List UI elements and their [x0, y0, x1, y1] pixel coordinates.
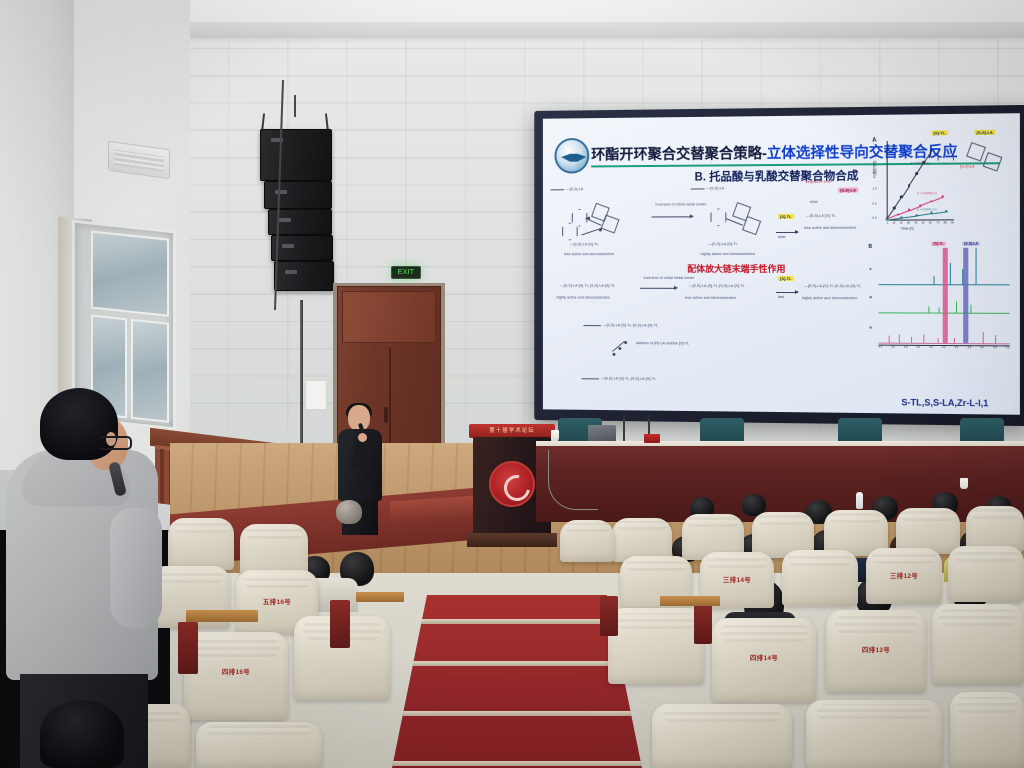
water-bottle	[856, 492, 863, 509]
chem-annotation: —[S,S]-LA-[S]-TL	[709, 242, 738, 246]
wall-notice-sheet	[305, 380, 327, 410]
x-tick: 80	[944, 221, 947, 224]
attendee-arm	[110, 508, 162, 628]
x-tick: 10	[892, 222, 895, 225]
kinetics-series-layer	[870, 136, 958, 137]
series-line	[916, 213, 931, 216]
seat[interactable]	[948, 546, 1024, 602]
x-tick: 70	[936, 221, 939, 224]
table-microphone	[623, 418, 625, 442]
projection-screen: 环酯开环聚合交替聚合策略-立体选择性导向交替聚合反应 B. 托品酸与乳酸交替聚合…	[543, 113, 1020, 415]
window-pane-upper	[91, 231, 169, 317]
series-marker	[941, 195, 944, 198]
nmr-peak	[970, 305, 971, 313]
seat-armrest	[178, 622, 198, 674]
reaction-arrow-icon	[776, 292, 798, 293]
y-tick: 2.5	[872, 139, 876, 143]
university-seal-icon	[554, 138, 589, 174]
nameplate	[644, 434, 660, 443]
seat-label: 三排12号	[866, 570, 942, 580]
paper-cup	[960, 478, 968, 489]
series-marker	[915, 214, 918, 217]
door-center-split	[389, 347, 391, 449]
audience-head	[336, 500, 362, 524]
power-cable	[548, 450, 598, 510]
step-nosing	[392, 761, 642, 766]
nmr-band-label: [S]-TL	[931, 242, 945, 246]
series-marker	[908, 184, 911, 187]
x-tick: 40	[914, 222, 917, 225]
chem-annotation: —[S,S]-LA	[707, 186, 725, 190]
exit-sign: EXIT	[391, 266, 421, 279]
seat-label: 四排12号	[826, 644, 926, 654]
highlight-tag: [S,S]-LA	[838, 188, 858, 193]
y-axis-label: ln([M]0/[M])	[872, 147, 876, 191]
nmr-peak	[950, 263, 951, 284]
seat[interactable]	[950, 692, 1024, 768]
series-slope-label: k = 0.0031 h-1	[917, 207, 937, 211]
seat[interactable]	[652, 704, 792, 768]
x-tick-row: 0 10 20 30 40 50 60 70 80 90	[887, 221, 954, 224]
chem-annotation: addition of [R]-LA residue [S]-TL	[636, 341, 675, 345]
x-axis-label: Time (h)	[901, 227, 914, 231]
slide-bottom-label: S-TL,S,S-LA,Zr-L-I,1	[868, 397, 1019, 409]
seat[interactable]: 四排16号	[184, 632, 288, 720]
chem-annotation: less active and stereoselective	[804, 226, 856, 230]
chem-ring-icon	[742, 216, 761, 235]
lecture-hall-photo: EXIT 环酯开环聚合交替聚合策略-立体选择性导向交替聚合反应 B. 托品酸与乳…	[0, 0, 1024, 768]
nmr-tick: 4.2	[942, 346, 946, 349]
slide-title-main: 环酯开环聚合交替聚合策略-	[591, 146, 767, 163]
seat-label: 四排14号	[712, 652, 816, 662]
chem-annotation: highly active and stereoselective	[556, 295, 609, 299]
chem-annotation: —[S,S]-LA-[S]-TL-[S,S]-LA-[S]-TL	[560, 284, 615, 288]
seat[interactable]: 四排14号	[712, 618, 816, 702]
chem-annotation: highly active and stereoselective	[701, 252, 755, 256]
highlight-tag: [S]-TL	[778, 214, 794, 219]
projection-screen-bezel: 环酯开环聚合交替聚合策略-立体选择性导向交替聚合反应 B. 托品酸与乳酸交替聚合…	[534, 105, 1024, 426]
nmr-peak	[954, 338, 955, 343]
series-marker	[893, 207, 896, 210]
chem-annotation: less active and stereoselective	[685, 296, 736, 300]
nmr-row-label: a	[869, 324, 871, 329]
chem-annotation: —[S,S]-LA-[S]-TL-[S,S]-LA-[S]-TL	[601, 376, 656, 380]
nmr-peak	[934, 276, 935, 284]
nmr-tick: 5.0	[891, 346, 895, 349]
highlight-tag: [S]-TL	[931, 130, 947, 135]
speaker-cabinet	[264, 181, 332, 209]
nmr-peak	[911, 337, 912, 343]
seat[interactable]	[608, 608, 704, 684]
chem-ring-icon	[601, 215, 620, 234]
chem-ring-icon	[711, 208, 727, 226]
nmr-tick: 4.0	[955, 346, 959, 349]
chem-annotation: —[S,S]-LA-[S]-TL	[806, 214, 836, 218]
nmr-peak	[938, 308, 939, 313]
nmr-tick: 3.2	[1006, 346, 1010, 349]
x-tick: 60	[929, 221, 932, 224]
seat-armrest	[330, 600, 350, 648]
slide-mid-banner: 配体放大链末端手性作用	[648, 262, 826, 275]
reaction-arrow-icon	[776, 232, 798, 233]
foreground-audience-head	[40, 700, 124, 768]
nmr-marker-band	[963, 248, 968, 343]
seat-armrest	[694, 600, 712, 644]
nmr-peak	[937, 338, 938, 343]
x-tick: 30	[907, 222, 910, 225]
nmr-band-label: [S,S]-LA	[962, 242, 980, 246]
nmr-tick: 5.2	[879, 346, 883, 349]
series-marker	[945, 210, 948, 213]
nmr-stack: B 5.2 5.0 4.8 4.6 4.4 4.2 4.0 3.8 3.6 3.…	[868, 244, 1017, 366]
seat-armrest	[600, 596, 618, 636]
paper-cup	[551, 430, 559, 441]
seat-writing-tablet	[660, 596, 720, 606]
eyeglasses-icon	[98, 436, 132, 450]
chem-annotation: [S,S]-LA	[960, 164, 975, 168]
series-marker	[915, 172, 918, 175]
chem-annotation: sequence error	[806, 180, 832, 184]
y-tick: 0.0	[872, 216, 876, 220]
chem-annotation: —[S,S]-LA-[S]-TL-[S,S]-LA-[S]-TL	[804, 284, 861, 288]
series-marker	[930, 149, 933, 152]
chem-annotation: slow	[810, 200, 818, 204]
speaker-cabinet	[260, 129, 332, 181]
panel-tag-b: B	[868, 244, 872, 250]
nmr-row-label: c	[869, 266, 871, 271]
y-axis	[887, 141, 888, 220]
chem-annotation: inversion of chiral metal center	[644, 276, 683, 280]
seat-label: 三排14号	[700, 574, 774, 584]
nmr-peak	[888, 336, 889, 343]
series-marker	[900, 196, 903, 199]
podium-base	[467, 533, 557, 547]
seat[interactable]	[196, 722, 322, 768]
door-transom-panel	[342, 291, 436, 343]
nmr-peak	[923, 335, 924, 343]
x-tick: 20	[900, 222, 903, 225]
podium-banner-text: 第十届学术论坛	[469, 426, 555, 434]
chem-annotation: fast	[778, 295, 784, 299]
nmr-peak	[995, 335, 996, 344]
seat[interactable]	[168, 518, 234, 570]
step-nosing	[392, 661, 642, 666]
nmr-tick: 4.6	[916, 346, 920, 349]
seat[interactable]: 四排12号	[826, 610, 926, 692]
chem-annotation: —[S,S]-LA-[S]-TL	[570, 242, 599, 246]
chem-annotation: —[S,S]-LA-[S]-TL-[S,S]-LA-[S]-TL	[689, 284, 745, 288]
nmr-peak	[899, 334, 900, 342]
seat[interactable]	[806, 700, 942, 768]
nmr-tick: 4.4	[929, 346, 933, 349]
nmr-marker-band	[942, 248, 947, 343]
nmr-row-label: b	[869, 294, 871, 299]
chem-annotation: slow	[778, 235, 786, 239]
seat-writing-tablet	[356, 592, 404, 602]
series-slope-label: k = 0.029 h-1	[911, 161, 929, 165]
series-slope-label: k = 0.0095 h-1	[917, 191, 937, 195]
x-tick: 50	[922, 222, 925, 225]
highlight-tag: [S]-TL	[778, 276, 794, 281]
seat[interactable]	[782, 550, 858, 606]
chem-annotation: less active and stereoselective	[564, 252, 614, 256]
chem-annotation: —[S,S]-LA	[566, 187, 583, 191]
nmr-peak	[928, 306, 929, 312]
series-marker	[896, 213, 899, 216]
nmr-tick-row: 5.2 5.0 4.8 4.6 4.4 4.2 4.0 3.8 3.6 3.4 …	[879, 346, 1010, 350]
x-axis	[887, 219, 954, 220]
nmr-tick: 3.8	[967, 346, 971, 349]
university-crest-icon	[489, 461, 535, 507]
nmr-tick: 3.6	[980, 346, 984, 349]
presenter-hand	[358, 433, 367, 442]
series-marker	[930, 200, 933, 203]
seat-label: 五排16号	[236, 596, 318, 606]
nmr-tick: 4.8	[904, 346, 908, 349]
highlight-tag: [S,S]-LA	[975, 130, 995, 135]
chem-annotation: —[S,S]-LA-[S]-TL-[S,S]-LA-[S]-TL	[603, 323, 658, 327]
x-tick: 0	[887, 222, 888, 225]
seat-writing-tablet	[186, 610, 258, 622]
chem-ring-icon	[562, 223, 577, 241]
nmr-peak	[956, 301, 957, 313]
speaker-cabinet	[274, 261, 334, 291]
seat[interactable]	[932, 604, 1024, 684]
chem-annotation: inversion of chiral metal center	[655, 202, 694, 206]
x-tick: 90	[951, 221, 954, 224]
chem-annotation: highly active and stereoselective	[802, 296, 857, 300]
series-marker	[900, 216, 903, 219]
seat[interactable]	[560, 520, 614, 562]
reaction-arrow-icon	[652, 216, 693, 217]
nmr-tick: 3.4	[993, 346, 997, 349]
reaction-arrow-icon	[640, 288, 677, 289]
podium-banner: 第十届学术论坛	[469, 424, 555, 438]
step-nosing	[392, 711, 642, 716]
seat-label: 四排16号	[184, 666, 288, 676]
nmr-peak	[983, 332, 984, 343]
nmr-peak	[975, 248, 976, 285]
seat[interactable]: 三排12号	[866, 548, 942, 604]
speaker-cabinet	[271, 235, 333, 261]
y-tick: 0.5	[872, 202, 876, 206]
line-array-loudspeaker	[252, 95, 342, 295]
